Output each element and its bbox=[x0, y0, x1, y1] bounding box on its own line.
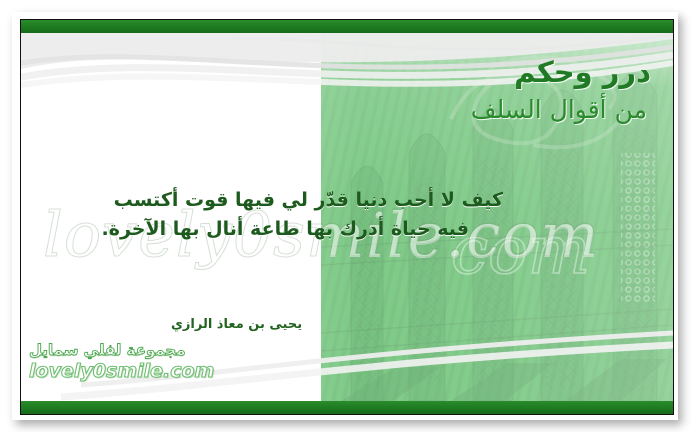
quote-line-2: فيه حياة أدرك بها طاعة أنال بها الآخرة. bbox=[83, 215, 469, 244]
poster-card: com bbox=[20, 19, 674, 415]
headline-subtitle: من أقوال السلف bbox=[471, 97, 647, 122]
top-green-bar bbox=[21, 20, 673, 33]
site-logo-url: lovely0smile.com bbox=[29, 360, 214, 382]
quote-line-1: كيف لا أحب دنيا قدّر لي فيها قوت أكتسب bbox=[83, 186, 503, 215]
headline-title: درر وحكم bbox=[471, 58, 651, 87]
bottom-green-bar bbox=[21, 401, 673, 414]
headline-block: درر وحكم من أقوال السلف bbox=[471, 58, 651, 122]
site-logo-arabic: مجموعة لفلي سمايل bbox=[29, 341, 214, 359]
quote-text: كيف لا أحب دنيا قدّر لي فيها قوت أكتسب ف… bbox=[83, 186, 503, 245]
quote-attribution: يحيى بن معاذ الرازي bbox=[171, 317, 302, 332]
poster-canvas: com bbox=[0, 0, 692, 432]
site-logo: مجموعة لفلي سمايل lovely0smile.com bbox=[29, 341, 214, 382]
